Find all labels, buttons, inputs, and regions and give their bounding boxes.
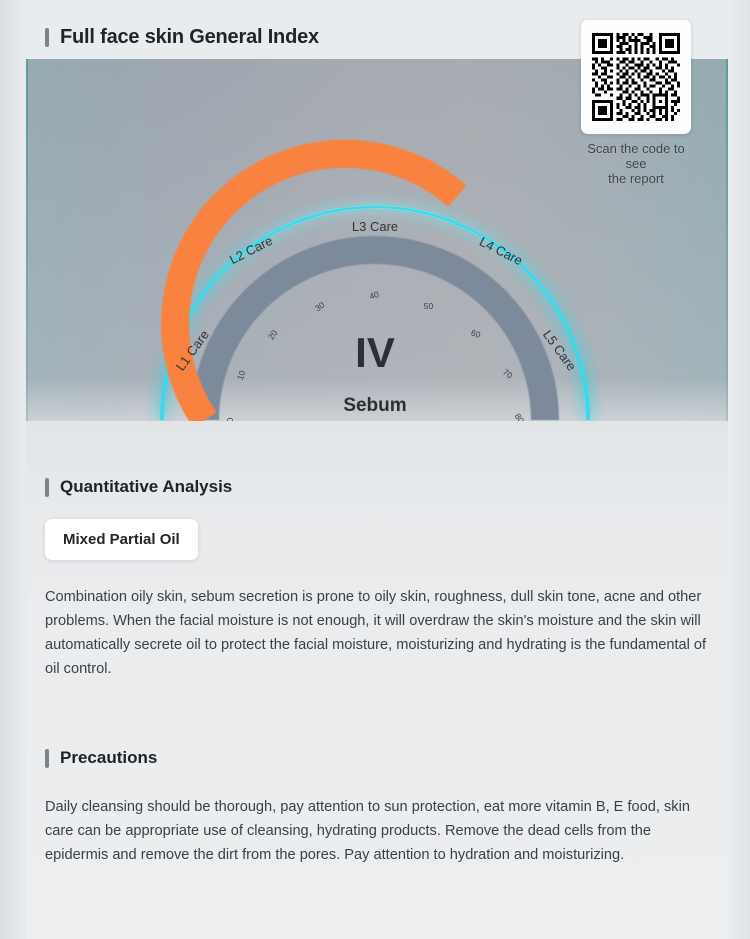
quantitative-analysis-text: Combination oily skin, sebum secretion i… [45, 585, 710, 681]
care-label-l2: L2 Care [227, 233, 275, 267]
tick-label: 80 [513, 411, 527, 421]
gauge-grade-value: IV [355, 329, 395, 376]
tick-label: 20 [266, 328, 280, 342]
tick-label: 40 [368, 289, 380, 302]
qr-caption-line2: the report [581, 171, 691, 186]
tick-label: 30 [313, 300, 327, 314]
precautions-header: Precautions [45, 748, 710, 768]
qr-card[interactable] [581, 20, 691, 134]
accent-bar-icon [45, 478, 49, 497]
tick-label: 60 [470, 327, 482, 340]
skin-report-page: 0 10 20 30 40 50 60 70 80 90 100 L1 Care… [0, 0, 750, 939]
care-label-l3b: L4 Care [477, 234, 525, 268]
qr-caption: Scan the code to see the report [581, 141, 691, 186]
tick-label: 50 [424, 301, 434, 311]
gauge-metric-label: Sebum [343, 395, 406, 416]
qr-caption-line1: Scan the code to see [581, 141, 691, 171]
tick-label: 10 [235, 369, 248, 381]
precautions-title: Precautions [60, 748, 157, 768]
report-content: Quantitative Analysis Mixed Partial Oil … [0, 421, 750, 939]
quantitative-analysis-header: Quantitative Analysis [45, 477, 710, 497]
tick-label: 70 [501, 367, 515, 381]
skin-type-badge: Mixed Partial Oil [45, 519, 198, 560]
page-title-row: Full face skin General Index [45, 26, 319, 49]
care-label-l3: L3 Care [352, 219, 398, 234]
page-title: Full face skin General Index [60, 26, 319, 49]
precautions-text: Daily cleansing should be thorough, pay … [45, 795, 710, 867]
accent-bar-icon [45, 749, 49, 768]
quantitative-analysis-title: Quantitative Analysis [60, 477, 232, 497]
accent-bar-icon [45, 28, 49, 47]
qr-code-icon[interactable] [592, 33, 680, 121]
qr-block: Scan the code to see the report [581, 20, 691, 186]
